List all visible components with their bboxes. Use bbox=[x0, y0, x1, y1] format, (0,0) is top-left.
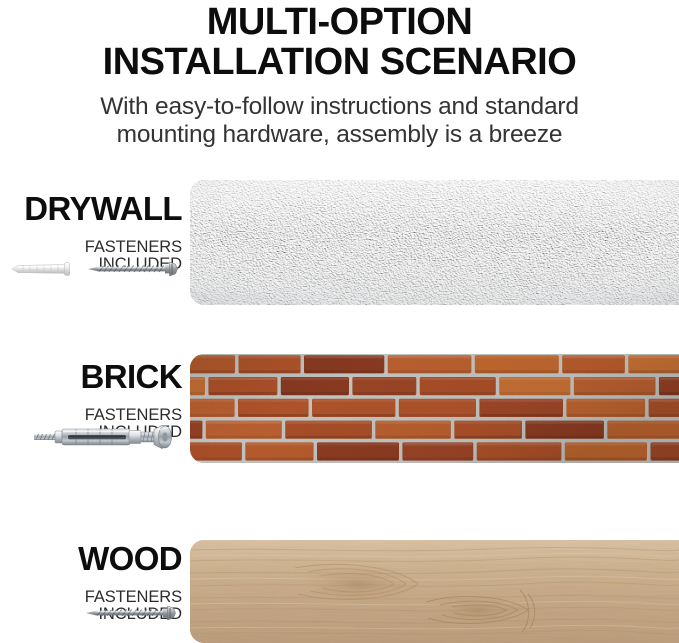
header-block: MULTI-OPTION INSTALLATION SCENARIO With … bbox=[0, 0, 679, 150]
section-drywall: DRYWALL FASTENERS INCLUDED bbox=[0, 176, 679, 308]
drywall-title: DRYWALL bbox=[0, 192, 182, 225]
wood-grain-texture bbox=[190, 540, 679, 643]
drywall-fastener-row bbox=[0, 260, 182, 278]
subtitle-line-1: With easy-to-follow instructions and sta… bbox=[0, 93, 679, 122]
page-title-line-1: MULTI-OPTION bbox=[0, 2, 679, 42]
wood-fastener-row bbox=[0, 604, 182, 622]
drywall-label-column: DRYWALL FASTENERS INCLUDED bbox=[0, 176, 182, 272]
brick-title: BRICK bbox=[0, 360, 182, 393]
drywall-surface bbox=[190, 180, 679, 305]
wood-texture-panel bbox=[190, 540, 679, 643]
brick-pattern bbox=[190, 354, 679, 463]
sleeve-anchor-icon bbox=[32, 424, 182, 450]
drywall-texture-panel bbox=[190, 180, 679, 305]
brick-surface bbox=[190, 354, 679, 463]
drywall-stipple-texture bbox=[190, 180, 679, 305]
subtitle-line-2: mounting hardware, assembly is a breeze bbox=[0, 121, 679, 150]
subtitle-block: With easy-to-follow instructions and sta… bbox=[0, 93, 679, 150]
wood-title: WOOD bbox=[0, 542, 182, 575]
screw-icon bbox=[86, 260, 182, 278]
wall-anchor-icon bbox=[8, 260, 78, 278]
brick-texture-panel bbox=[190, 354, 679, 463]
brick-fastener-row bbox=[0, 424, 182, 450]
section-brick: BRICK FASTENERS INCLUDED bbox=[0, 352, 679, 464]
screw-icon bbox=[82, 604, 182, 622]
section-wood: WOOD FASTENERS INCLUDED bbox=[0, 536, 679, 643]
wood-surface bbox=[190, 540, 679, 643]
page-title-line-2: INSTALLATION SCENARIO bbox=[0, 42, 679, 82]
